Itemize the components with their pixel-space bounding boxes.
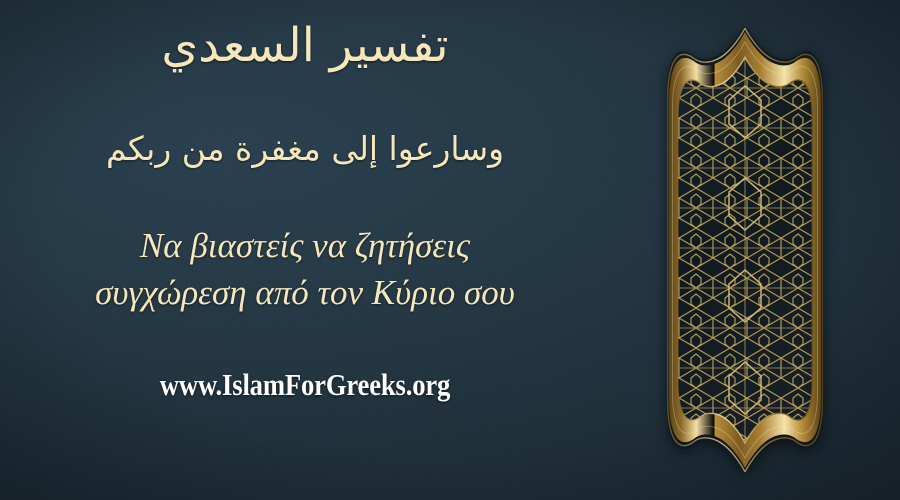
greek-line-1: Να βιαστείς να ζητήσεις <box>0 222 610 269</box>
greek-translation: Να βιαστείς να ζητήσεις συγχώρεση από το… <box>0 222 610 317</box>
banner-image: تفسير السعدي وسارعوا إلى مغفرة من ربكم Ν… <box>0 0 900 500</box>
arabic-verse: وسارعوا إلى مغفرة من ربكم <box>0 128 610 171</box>
arabic-title: تفسير السعدي <box>0 18 610 74</box>
islamic-arch-ornament <box>645 28 845 472</box>
site-url[interactable]: www.IslamForGreeks.org <box>43 367 568 403</box>
text-column: تفسير السعدي وسارعوا إلى مغفرة من ربكم Ν… <box>0 0 610 500</box>
greek-line-2: συγχώρεση από τον Κύριο σου <box>0 269 610 316</box>
